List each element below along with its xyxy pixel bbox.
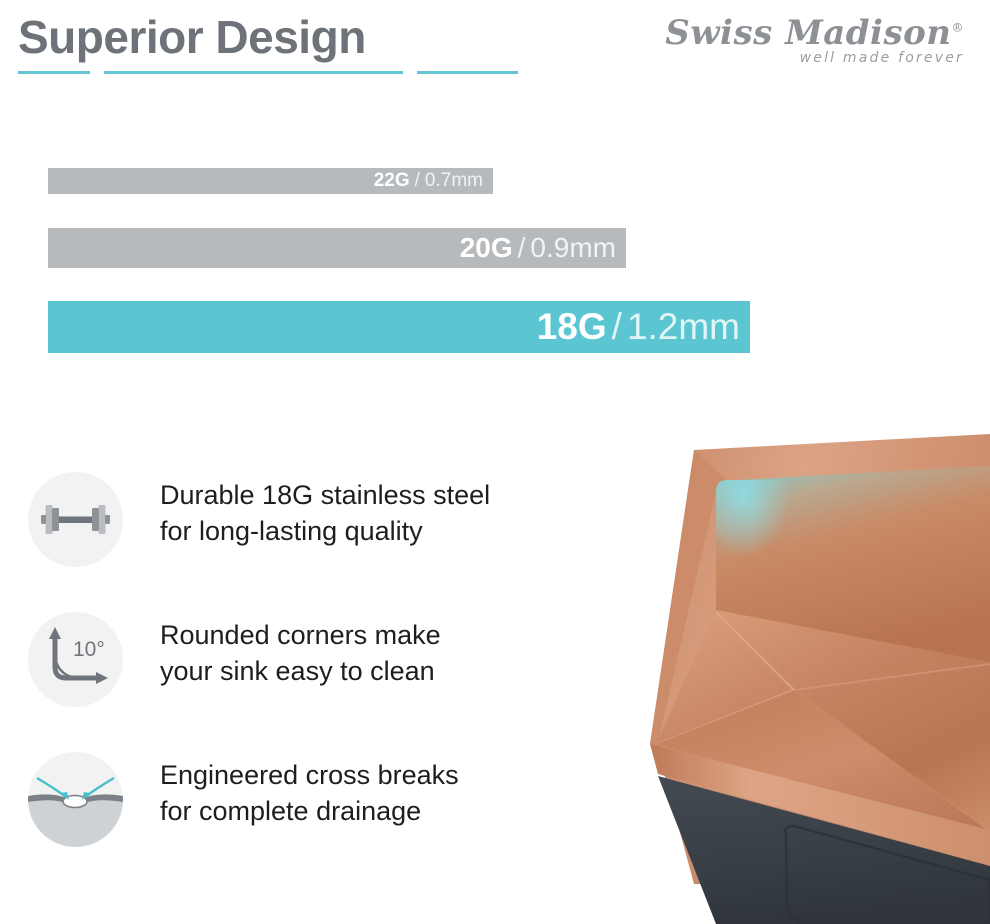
cross-break-drain-icon	[28, 752, 123, 847]
gauge-row-18g: 18G / 1.2mm	[48, 301, 768, 353]
gauge-value-22g: 22G	[374, 170, 410, 192]
gauge-separator: /	[410, 170, 425, 192]
gauge-thickness-22g: 0.7mm	[425, 170, 483, 192]
corner-angle-label: 10°	[73, 638, 105, 661]
registered-trademark-icon: ®	[952, 21, 965, 35]
feature-text-cross-breaks: Engineered cross breaks for complete dra…	[160, 758, 459, 829]
sink-illustration	[598, 414, 990, 924]
gauge-row-20g: 20G / 0.9mm	[48, 228, 768, 268]
page-header: Superior Design Swiss Madison® well made…	[0, 0, 990, 110]
gauge-comparison-chart: 22G / 0.7mm 20G / 0.9mm 18G / 1.2mm	[48, 168, 768, 353]
feature-item-rounded-corners: 10° Rounded corners make your sink easy …	[28, 610, 608, 750]
brand-logo-wordmark: Swiss Madison®	[664, 16, 964, 52]
feature-line-1: Rounded corners make	[160, 618, 441, 654]
gauge-bar-18g: 18G / 1.2mm	[48, 301, 750, 353]
gauge-row-22g: 22G / 0.7mm	[48, 168, 768, 194]
underline-gap	[90, 70, 104, 75]
feature-line-1: Durable 18G stainless steel	[160, 478, 490, 514]
corner-angle-icon-glyph: 10°	[28, 612, 123, 707]
feature-text-rounded-corners: Rounded corners make your sink easy to c…	[160, 618, 441, 689]
underline-gap	[403, 70, 417, 75]
dumbbell-icon	[28, 472, 123, 567]
dumbbell-icon-glyph	[28, 472, 123, 567]
gauge-thickness-20g: 0.9mm	[530, 232, 616, 264]
gauge-value-18g: 18G	[537, 306, 607, 348]
page-title: Superior Design	[18, 14, 366, 60]
feature-line-2: for long-lasting quality	[160, 514, 490, 550]
feature-text-durability: Durable 18G stainless steel for long-las…	[160, 478, 490, 549]
brand-logo-text: Swiss Madison	[665, 13, 951, 53]
corner-angle-icon: 10°	[28, 612, 123, 707]
feature-item-cross-breaks: Engineered cross breaks for complete dra…	[28, 750, 608, 890]
gauge-separator: /	[607, 306, 627, 348]
gauge-bar-20g: 20G / 0.9mm	[48, 228, 626, 268]
feature-line-2: for complete drainage	[160, 794, 459, 830]
gauge-thickness-18g: 1.2mm	[627, 306, 740, 348]
cross-break-drain-icon-glyph	[28, 752, 123, 847]
gauge-bar-22g: 22G / 0.7mm	[48, 168, 493, 194]
feature-list: Durable 18G stainless steel for long-las…	[28, 470, 608, 890]
gauge-value-20g: 20G	[460, 232, 513, 264]
feature-line-2: your sink easy to clean	[160, 654, 441, 690]
brand-logo: Swiss Madison® well made forever	[664, 16, 964, 78]
product-photo-sink	[598, 414, 990, 924]
title-underline	[18, 71, 518, 74]
feature-line-1: Engineered cross breaks	[160, 758, 459, 794]
gauge-separator: /	[513, 232, 531, 264]
feature-item-durability: Durable 18G stainless steel for long-las…	[28, 470, 608, 610]
